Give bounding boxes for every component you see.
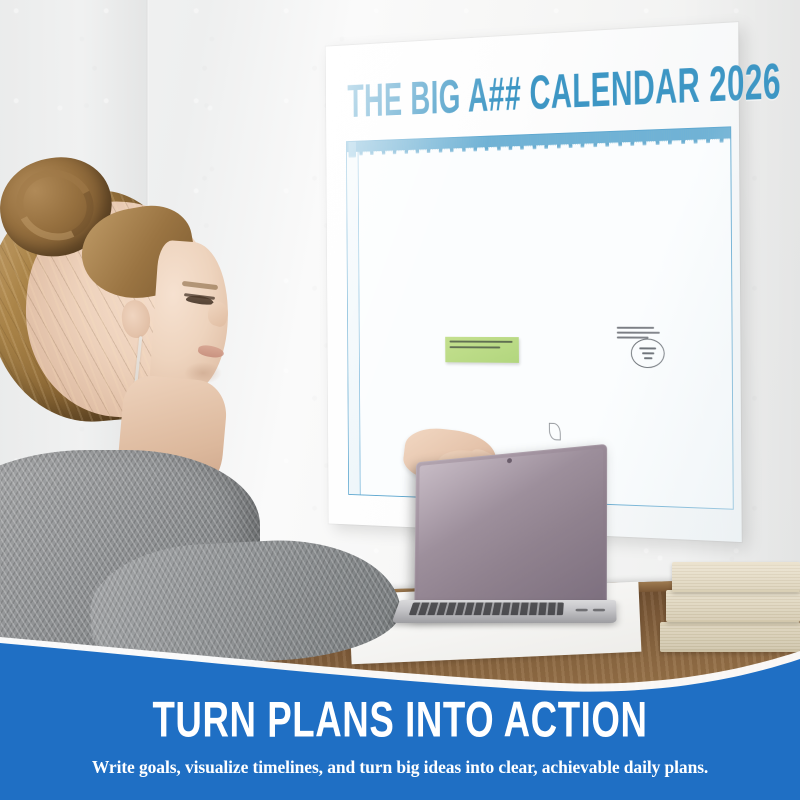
laptop-screen [418,448,603,613]
laptop-keyboard [409,602,564,615]
promo-banner: TURN PLANS INTO ACTION Write goals, visu… [0,625,800,800]
laptop-lid [414,444,607,617]
open-laptop [400,452,622,642]
sticky-note [445,337,519,363]
book-top [672,562,800,592]
product-lifestyle-scene: THE BIG A## CALENDAR 2026 [0,0,800,800]
banner-subline: Write goals, visualize timelines, and tu… [0,757,800,778]
laptop-base [391,600,616,623]
book-middle [666,590,800,622]
banner-headline: TURN PLANS INTO ACTION [24,693,776,749]
banner-text-block: TURN PLANS INTO ACTION Write goals, visu… [0,699,800,778]
month-label-column [347,142,361,495]
laptop-port-1 [575,609,587,612]
circled-note-doodle [631,339,665,369]
laptop-port-2 [593,609,605,612]
woman-typing [0,150,300,670]
month-label [349,146,357,157]
leaf-doodle [549,423,561,441]
